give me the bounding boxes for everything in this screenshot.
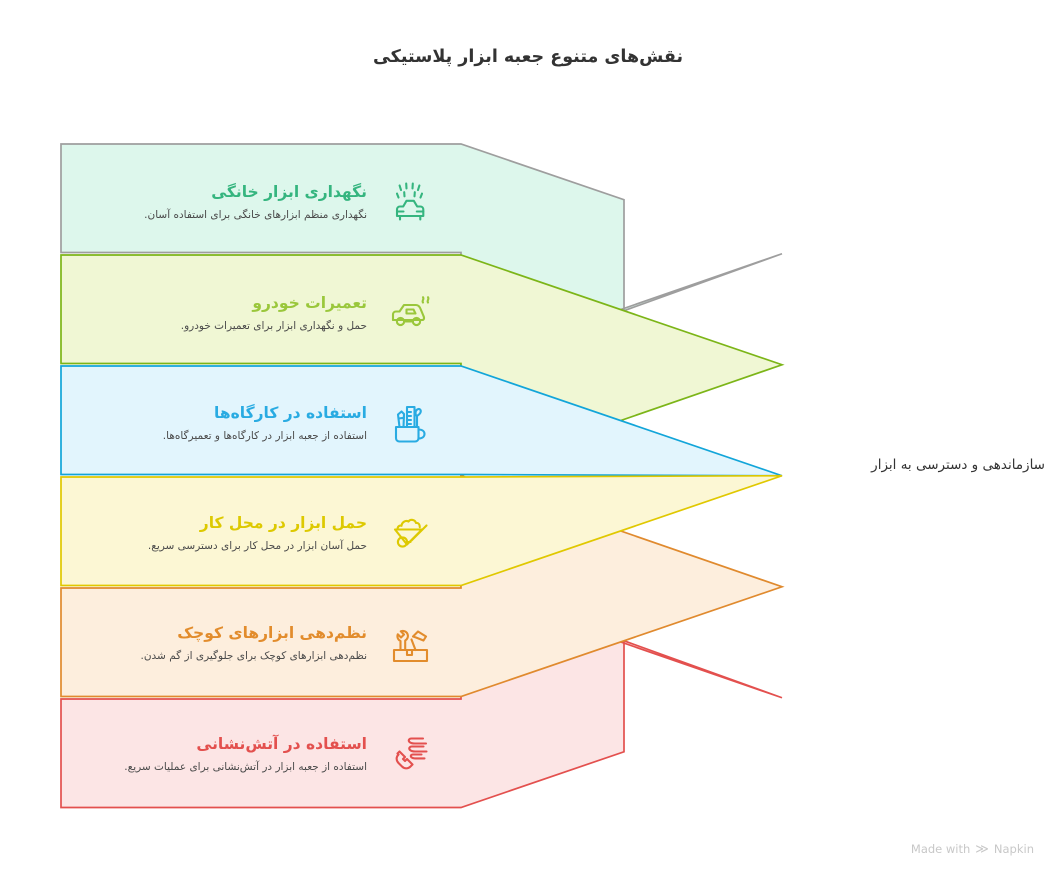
list-item-title: حمل ابزار در محل کار	[61, 513, 367, 534]
list-item-text: حمل ابزار در محل کار حمل آسان ابزار در م…	[61, 513, 371, 554]
list-item-description: استفاده از جعبه ابزار در آتش‌نشانی برای …	[61, 760, 367, 775]
napkin-logo-icon: ≫	[975, 843, 989, 856]
list-item-text: تعمیرات خودرو حمل و نگهداری ابزار برای ت…	[61, 293, 371, 334]
list-item[interactable]: نظم‌دهی ابزارهای کوچک نظم‌دهی ابزارهای ک…	[61, 601, 461, 685]
list-item-description: حمل آسان ابزار در محل کار برای دسترسی سر…	[61, 539, 367, 554]
ringing-phone-icon	[383, 726, 439, 782]
list-item-text: استفاده در آتش‌نشانی استفاده از جعبه ابز…	[61, 734, 371, 775]
list-item-description: نظم‌دهی ابزارهای کوچک برای جلوگیری از گم…	[61, 649, 367, 664]
list-item[interactable]: حمل ابزار در محل کار حمل آسان ابزار در م…	[61, 491, 461, 575]
pencil-cup-icon	[383, 395, 439, 451]
arrow-outcome-label: سازماندهی و دسترسی به ابزار	[795, 456, 1045, 475]
list-item-title: استفاده در آتش‌نشانی	[61, 734, 367, 755]
list-item-title: استفاده در کارگاه‌ها	[61, 403, 367, 424]
car-repair-icon	[383, 285, 439, 341]
list-item[interactable]: استفاده در کارگاه‌ها استفاده از جعبه ابز…	[61, 381, 461, 465]
list-item[interactable]: استفاده در آتش‌نشانی استفاده از جعبه ابز…	[61, 712, 461, 796]
car-wash-icon	[383, 174, 439, 230]
watermark-brand: Napkin	[994, 842, 1034, 856]
diagram-canvas: نقش‌های متنوع جعبه ابزار پلاستیکی نگهدار…	[0, 0, 1056, 876]
wheelbarrow-icon	[383, 505, 439, 561]
list-item-text: نظم‌دهی ابزارهای کوچک نظم‌دهی ابزارهای ک…	[61, 623, 371, 664]
list-item-description: استفاده از جعبه ابزار در کارگاه‌ها و تعم…	[61, 429, 367, 444]
list-item-title: تعمیرات خودرو	[61, 293, 367, 314]
list-item[interactable]: نگهداری ابزار خانگی نگهداری منظم ابزارها…	[61, 160, 461, 244]
list-item-description: نگهداری منظم ابزارهای خانگی برای استفاده…	[61, 208, 367, 223]
list-item-text: استفاده در کارگاه‌ها استفاده از جعبه ابز…	[61, 403, 371, 444]
list-item-description: حمل و نگهداری ابزار برای تعمیرات خودرو.	[61, 319, 367, 334]
watermark-prefix: Made with	[911, 842, 970, 856]
list-item[interactable]: تعمیرات خودرو حمل و نگهداری ابزار برای ت…	[61, 271, 461, 355]
list-item-title: نظم‌دهی ابزارهای کوچک	[61, 623, 367, 644]
napkin-watermark: Made with ≫ Napkin	[911, 842, 1034, 856]
list-item-title: نگهداری ابزار خانگی	[61, 182, 367, 203]
toolbox-icon	[383, 615, 439, 671]
list-item-text: نگهداری ابزار خانگی نگهداری منظم ابزارها…	[61, 182, 371, 223]
